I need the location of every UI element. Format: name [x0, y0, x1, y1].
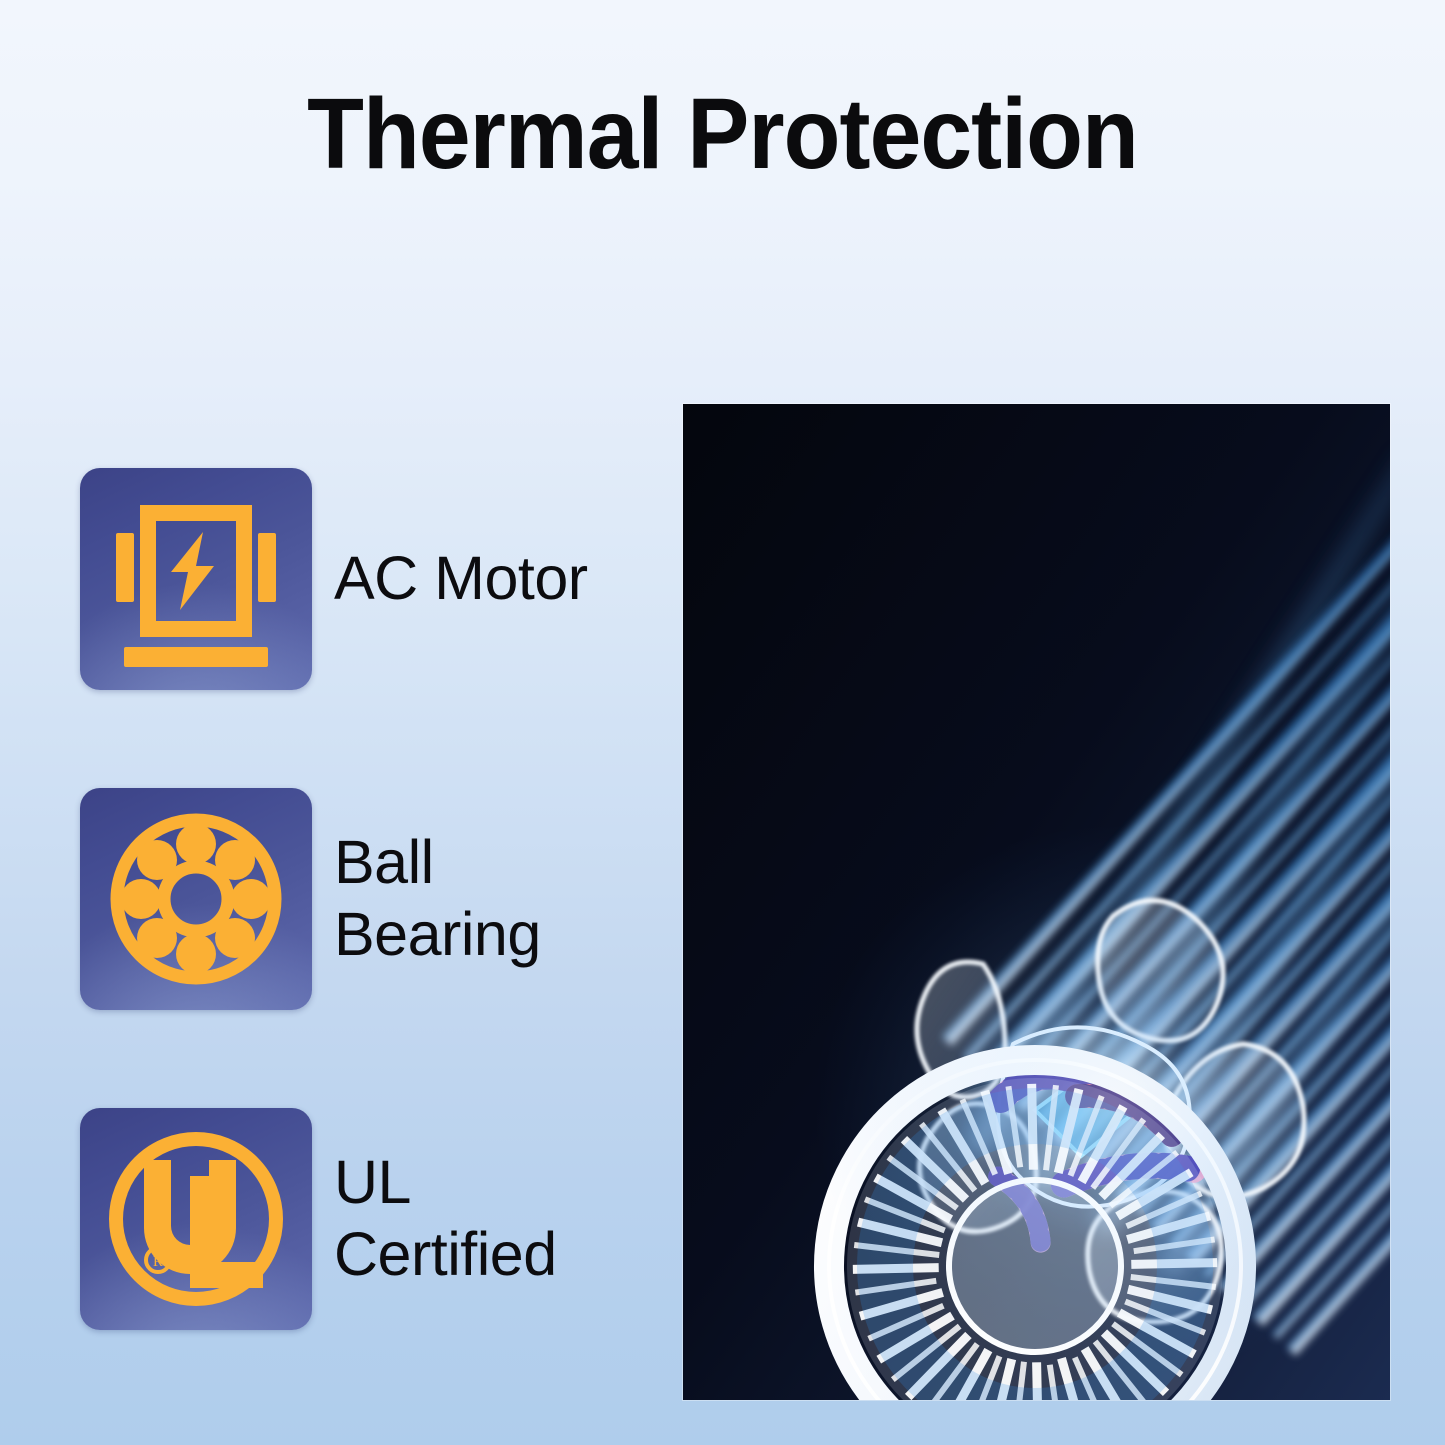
- ac-motor-icon: [80, 468, 312, 690]
- feature-label-ac-motor: AC Motor: [334, 543, 588, 615]
- ball-bearing-icon-tile: [80, 788, 312, 1010]
- feature-list: AC Motor Ball Be: [80, 468, 660, 1330]
- feature-item-ul-certified: R UL Certified: [80, 1108, 660, 1330]
- feature-label-ball-bearing: Ball Bearing: [334, 827, 541, 971]
- svg-text:R: R: [153, 1254, 163, 1270]
- feature-item-ac-motor: AC Motor: [80, 468, 660, 690]
- page-title: Thermal Protection: [51, 84, 1395, 184]
- ball-bearing-icon: [80, 788, 312, 1010]
- feature-label-ul-certified: UL Certified: [334, 1147, 557, 1291]
- product-photo-illustration: [683, 404, 1390, 1400]
- ac-motor-icon-tile: [80, 468, 312, 690]
- ul-certified-icon-tile: R: [80, 1108, 312, 1330]
- ul-certified-icon: R: [80, 1108, 312, 1330]
- feature-item-ball-bearing: Ball Bearing: [80, 788, 660, 1010]
- product-photo: [683, 404, 1390, 1400]
